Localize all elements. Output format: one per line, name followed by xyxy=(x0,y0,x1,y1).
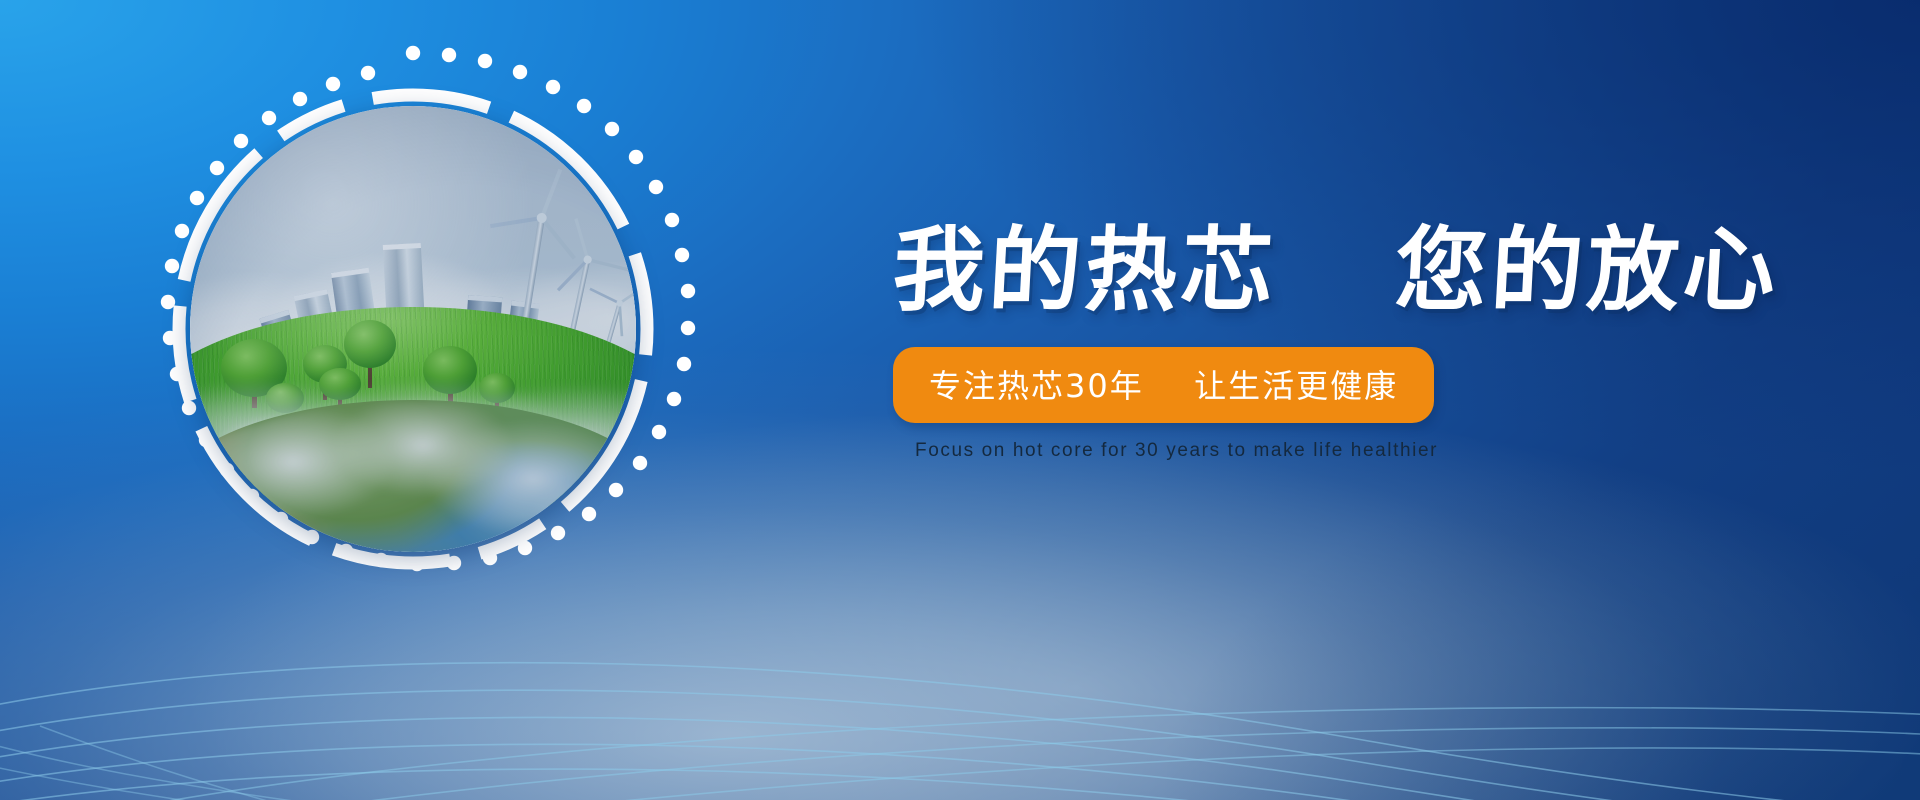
eco-globe-emblem xyxy=(128,44,698,614)
globe-disc xyxy=(190,106,636,552)
english-subtitle: Focus on hot core for 30 years to make l… xyxy=(915,440,1793,462)
badge-part-2: 让生活更健康 xyxy=(1194,367,1398,405)
banner-copy: 我的热芯 您的放心 专注热芯30年 让生活更健康 Focus on hot co… xyxy=(893,222,1793,462)
globe-earth-continents xyxy=(190,400,636,552)
headline: 我的热芯 您的放心 xyxy=(890,222,1795,320)
tagline-badge: 专注热芯30年 让生活更健康 xyxy=(893,347,1434,423)
headline-part-1: 我的热芯 xyxy=(890,217,1280,324)
hero-banner: 我的热芯 您的放心 专注热芯30年 让生活更健康 Focus on hot co… xyxy=(0,0,1920,800)
badge-part-1: 专注热芯30年 xyxy=(929,367,1144,405)
headline-part-2: 您的放心 xyxy=(1392,217,1782,324)
